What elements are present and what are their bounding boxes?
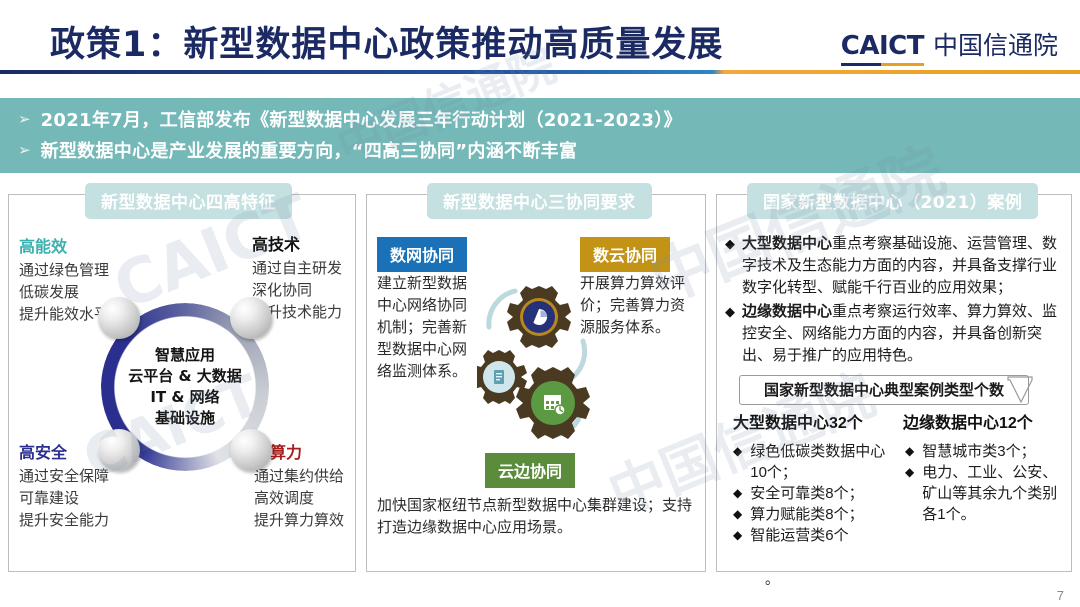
slide-header: 政策1：新型数据中心政策推动高质量发展 CAICT 中国信通院	[0, 0, 1080, 80]
gear-cluster-icon	[477, 275, 597, 450]
arrow-right-icon: ➢	[18, 139, 31, 163]
band-bullet-row: ➢ 新型数据中心是产业发展的重要方向，“四高三协同”内涵不断丰富	[18, 139, 1080, 164]
ring-graphic: 智慧应用云平台 & 大数据IT & 网络基础设施	[101, 303, 269, 471]
ring-center-text: 智慧应用云平台 & 大数据IT & 网络基础设施	[105, 345, 265, 429]
brand-name-chinese: 中国信通院	[933, 26, 1058, 62]
quadrant-high-efficiency: 高能效 通过绿色管理低碳发展提升能效水平	[19, 237, 109, 326]
panel-national-cases: ◆ 大型数据中心重点考察基础设施、运营管理、数字技术及生态能力方面的内容，并具备…	[716, 194, 1072, 572]
text-data-cloud-collab: 开展算力算效评价；完善算力资源服务体系。	[580, 273, 698, 339]
panel-title-national-cases: 国家新型数据中心（2021）案例	[747, 183, 1038, 219]
quadrant-body: 通过集约供给高效调度提升算力算效	[254, 466, 344, 532]
case-bullet-text: 大型数据中心重点考察基础设施、运营管理、数字技术及生态能力方面的内容，并具备支撑…	[742, 233, 1065, 299]
brand-logo: CAICT 中国信通院	[841, 26, 1058, 66]
column-item-text: 绿色低碳类数据中心10个；	[750, 441, 897, 483]
column-item-text: 智慧城市类3个；	[922, 441, 1069, 462]
column-large-dc: 大型数据中心32个 ◆ 绿色低碳类数据中心10个； ◆ 安全可靠类8个； ◆ 算…	[725, 409, 897, 546]
column-item-text: 电力、工业、公安、矿山等其余九个类别各1个。	[922, 462, 1069, 525]
panel-four-high: 高能效 通过绿色管理低碳发展提升能效水平 高技术 通过自主研发深化协同提升技术能…	[8, 194, 356, 572]
quadrant-body: 通过绿色管理低碳发展提升能效水平	[19, 260, 109, 326]
arrow-down-right-icon	[1006, 376, 1034, 404]
document-icon	[494, 370, 504, 384]
diamond-bullet-icon: ◆	[905, 441, 914, 462]
gears-graphic	[477, 275, 597, 450]
case-bullet-bold: 大型数据中心	[742, 235, 832, 252]
quadrant-title: 高能效	[19, 237, 109, 259]
tag-data-network-collab: 数网协同	[377, 237, 467, 272]
page-number: 7	[1057, 588, 1064, 603]
column-item-text: 安全可靠类8个；	[750, 483, 897, 504]
column-edge-dc: 边缘数据中心12个 ◆ 智慧城市类3个； ◆ 电力、工业、公安、矿山等其余九个类…	[897, 409, 1069, 546]
brand-mark-caict: CAICT	[841, 31, 924, 66]
diamond-bullet-icon: ◆	[905, 462, 914, 525]
band-bullet-text: 新型数据中心是产业发展的重要方向，“四高三协同”内涵不断丰富	[41, 139, 578, 164]
ring-node-icon	[230, 429, 272, 471]
case-columns: 大型数据中心32个 ◆ 绿色低碳类数据中心10个； ◆ 安全可靠类8个； ◆ 算…	[725, 409, 1069, 546]
stray-punctuation: 。	[765, 569, 779, 589]
arrow-right-icon: ➢	[18, 108, 31, 132]
gear-calendar	[516, 367, 590, 439]
diamond-bullet-icon: ◆	[733, 441, 742, 483]
text-cloud-edge-collab: 加快国家枢纽节点新型数据中心集群建设；支持打造边缘数据中心应用场景。	[377, 495, 697, 539]
panel-three-collaboration: 数网协同 建立新型数据中心网络协同机制；完善新型数据中心网络监测体系。 数云协同…	[366, 194, 706, 572]
band-bullet-row: ➢ 2021年7月，工信部发布《新型数据中心发展三年行动计划（2021-2023…	[18, 108, 1080, 133]
column-header: 大型数据中心32个	[725, 409, 897, 433]
diamond-bullet-icon: ◆	[733, 483, 742, 504]
list-item: ◆ 大型数据中心重点考察基础设施、运营管理、数字技术及生态能力方面的内容，并具备…	[725, 233, 1065, 299]
quadrant-body: 通过安全保障可靠建设提升安全能力	[19, 466, 109, 532]
diamond-bullet-icon: ◆	[725, 301, 735, 367]
ring-node-icon	[230, 297, 272, 339]
case-count-header: 国家新型数据中心典型案例类型个数	[739, 375, 1029, 405]
quadrant-high-security: 高安全 通过安全保障可靠建设提升安全能力	[19, 443, 109, 532]
list-item: ◆ 算力赋能类8个；	[725, 504, 897, 525]
ring-node-icon	[98, 297, 140, 339]
band-bullet-text: 2021年7月，工信部发布《新型数据中心发展三年行动计划（2021-2023）》	[41, 108, 682, 133]
column-item-text: 算力赋能类8个；	[750, 504, 897, 525]
list-item: ◆ 智慧城市类3个；	[897, 441, 1069, 462]
tag-data-cloud-collab: 数云协同	[580, 237, 670, 272]
panels-row: 高能效 通过绿色管理低碳发展提升能效水平 高技术 通过自主研发深化协同提升技术能…	[0, 186, 1080, 586]
list-item: ◆ 电力、工业、公安、矿山等其余九个类别各1个。	[897, 462, 1069, 525]
quadrant-title: 高安全	[19, 443, 109, 465]
column-header: 边缘数据中心12个	[897, 409, 1069, 433]
ring-node-icon	[98, 429, 140, 471]
summary-band: ➢ 2021年7月，工信部发布《新型数据中心发展三年行动计划（2021-2023…	[0, 98, 1080, 173]
list-item: ◆ 绿色低碳类数据中心10个；	[725, 441, 897, 483]
panel-title-four-high: 新型数据中心四高特征	[85, 183, 292, 219]
case-bullet-text: 边缘数据中心重点考察运行效率、算力算效、监控安全、网络能力方面的内容，并具备创新…	[742, 301, 1065, 367]
diamond-bullet-icon: ◆	[725, 233, 735, 299]
case-criteria-list: ◆ 大型数据中心重点考察基础设施、运营管理、数字技术及生态能力方面的内容，并具备…	[725, 233, 1065, 369]
list-item: ◆ 边缘数据中心重点考察运行效率、算力算效、监控安全、网络能力方面的内容，并具备…	[725, 301, 1065, 367]
text-data-network-collab: 建立新型数据中心网络协同机制；完善新型数据中心网络监测体系。	[377, 273, 477, 383]
header-divider	[0, 70, 1080, 74]
tag-cloud-edge-collab: 云边协同	[485, 453, 575, 488]
four-high-diagram: 高能效 通过绿色管理低碳发展提升能效水平 高技术 通过自主研发深化协同提升技术能…	[9, 195, 355, 571]
diamond-bullet-icon: ◆	[733, 525, 742, 546]
page-title: 政策1：新型数据中心政策推动高质量发展	[50, 16, 723, 67]
panel-title-three-collaboration: 新型数据中心三协同要求	[427, 183, 652, 219]
case-bullet-bold: 边缘数据中心	[742, 303, 832, 320]
list-item: ◆ 智能运营类6个	[725, 525, 897, 546]
quadrant-title: 高技术	[252, 235, 342, 257]
diamond-bullet-icon: ◆	[733, 504, 742, 525]
gear-pie-chart	[507, 286, 571, 348]
column-item-text: 智能运营类6个	[750, 525, 897, 546]
list-item: ◆ 安全可靠类8个；	[725, 483, 897, 504]
